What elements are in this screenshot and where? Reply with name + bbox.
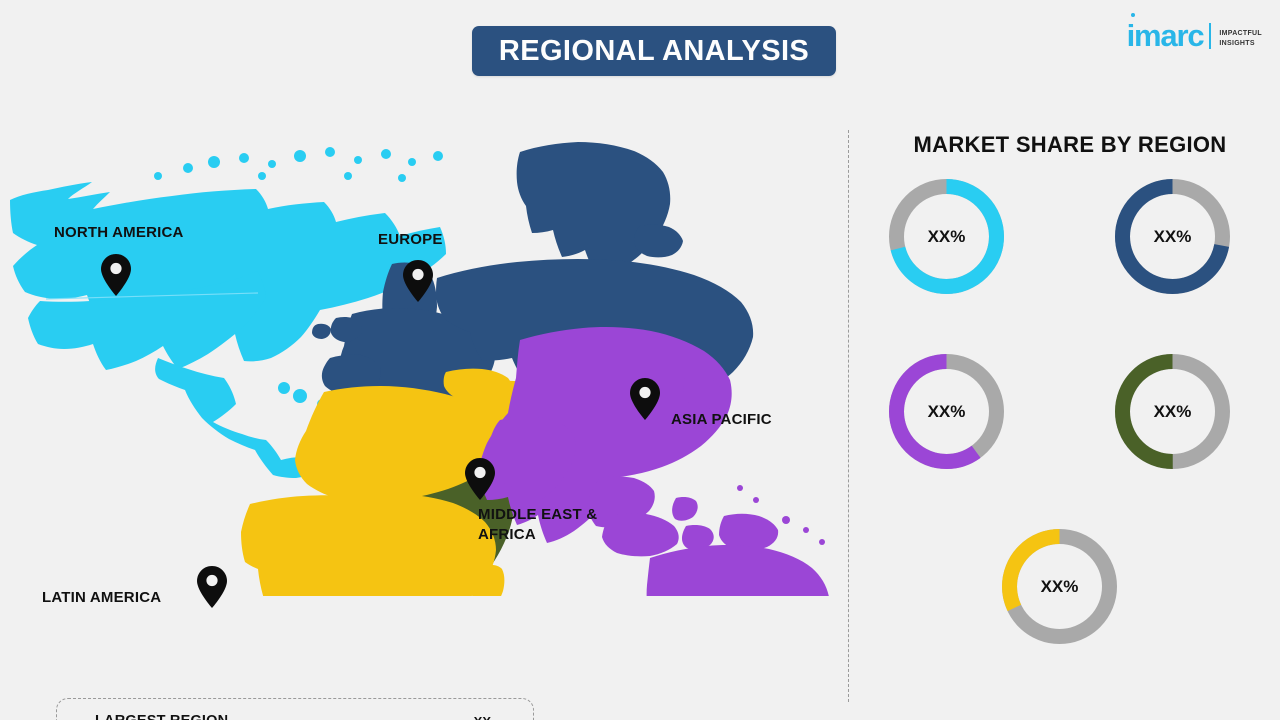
donut-gauge-middle-east-africa: XX% bbox=[997, 524, 1122, 649]
logo-divider bbox=[1209, 23, 1211, 49]
donut-gauge-value: XX% bbox=[997, 524, 1122, 649]
donut-gauge-latin-america: XX% bbox=[1110, 349, 1235, 474]
panel-divider bbox=[848, 130, 849, 702]
map-label-europe: EUROPE bbox=[378, 230, 443, 250]
map-pin-europe[interactable] bbox=[402, 259, 434, 303]
donut-gauge-europe: XX% bbox=[1110, 174, 1235, 299]
map-label-latin-america: LATIN AMERICA bbox=[42, 588, 161, 608]
page-title-badge: REGIONAL ANALYSIS bbox=[472, 26, 836, 76]
logo-tagline-line-2: INSIGHTS bbox=[1219, 39, 1262, 48]
world-map-graphic bbox=[0, 96, 840, 596]
map-region-asia-pacific bbox=[478, 327, 840, 596]
map-pin-middle-east-africa[interactable] bbox=[464, 457, 496, 501]
map-pin-latin-america[interactable] bbox=[196, 565, 228, 609]
map-pin-north-america[interactable] bbox=[100, 253, 132, 297]
logo-tagline-line-1: IMPACTFUL bbox=[1219, 29, 1262, 38]
market-share-panel: MARKET SHARE BY REGION XX% XX% bbox=[860, 96, 1280, 720]
regional-analysis-infographic: REGIONAL ANALYSIS imarc IMPACTFUL INSIGH… bbox=[0, 0, 1280, 720]
region-summary-box: LARGEST REGION XX FASTEST GROWING REGION… bbox=[56, 698, 534, 720]
chart-title: MARKET SHARE BY REGION bbox=[860, 132, 1280, 158]
map-label-asia-pacific: ASIA PACIFIC bbox=[671, 410, 772, 430]
map-label-middle-east-africa: MIDDLE EAST & AFRICA bbox=[478, 505, 597, 546]
donut-gauge-grid: XX% XX% XX% XX bbox=[860, 168, 1280, 708]
donut-gauge-value: XX% bbox=[884, 174, 1009, 299]
map-pin-asia-pacific[interactable] bbox=[629, 377, 661, 421]
donut-gauge-asia-pacific: XX% bbox=[884, 349, 1009, 474]
donut-gauge-value: XX% bbox=[1110, 174, 1235, 299]
logo-dot-icon bbox=[1131, 13, 1135, 17]
imarc-logo: imarc IMPACTFUL INSIGHTS bbox=[1127, 20, 1262, 51]
world-map-panel: NORTH AMERICA EUROPE ASIA PACIFIC MIDDLE… bbox=[0, 96, 840, 720]
logo-wordmark: imarc bbox=[1127, 20, 1204, 51]
donut-gauge-north-america: XX% bbox=[884, 174, 1009, 299]
donut-gauge-value: XX% bbox=[1110, 349, 1235, 474]
map-label-north-america: NORTH AMERICA bbox=[54, 223, 184, 243]
donut-gauge-value: XX% bbox=[884, 349, 1009, 474]
page-title: REGIONAL ANALYSIS bbox=[499, 35, 809, 68]
logo-tagline: IMPACTFUL INSIGHTS bbox=[1219, 29, 1262, 51]
logo-wordmark-text: imarc bbox=[1127, 18, 1204, 53]
legend-label: LARGEST REGION bbox=[95, 713, 228, 720]
legend-row-largest-region: LARGEST REGION XX bbox=[95, 713, 497, 720]
legend-value: XX bbox=[474, 714, 491, 720]
